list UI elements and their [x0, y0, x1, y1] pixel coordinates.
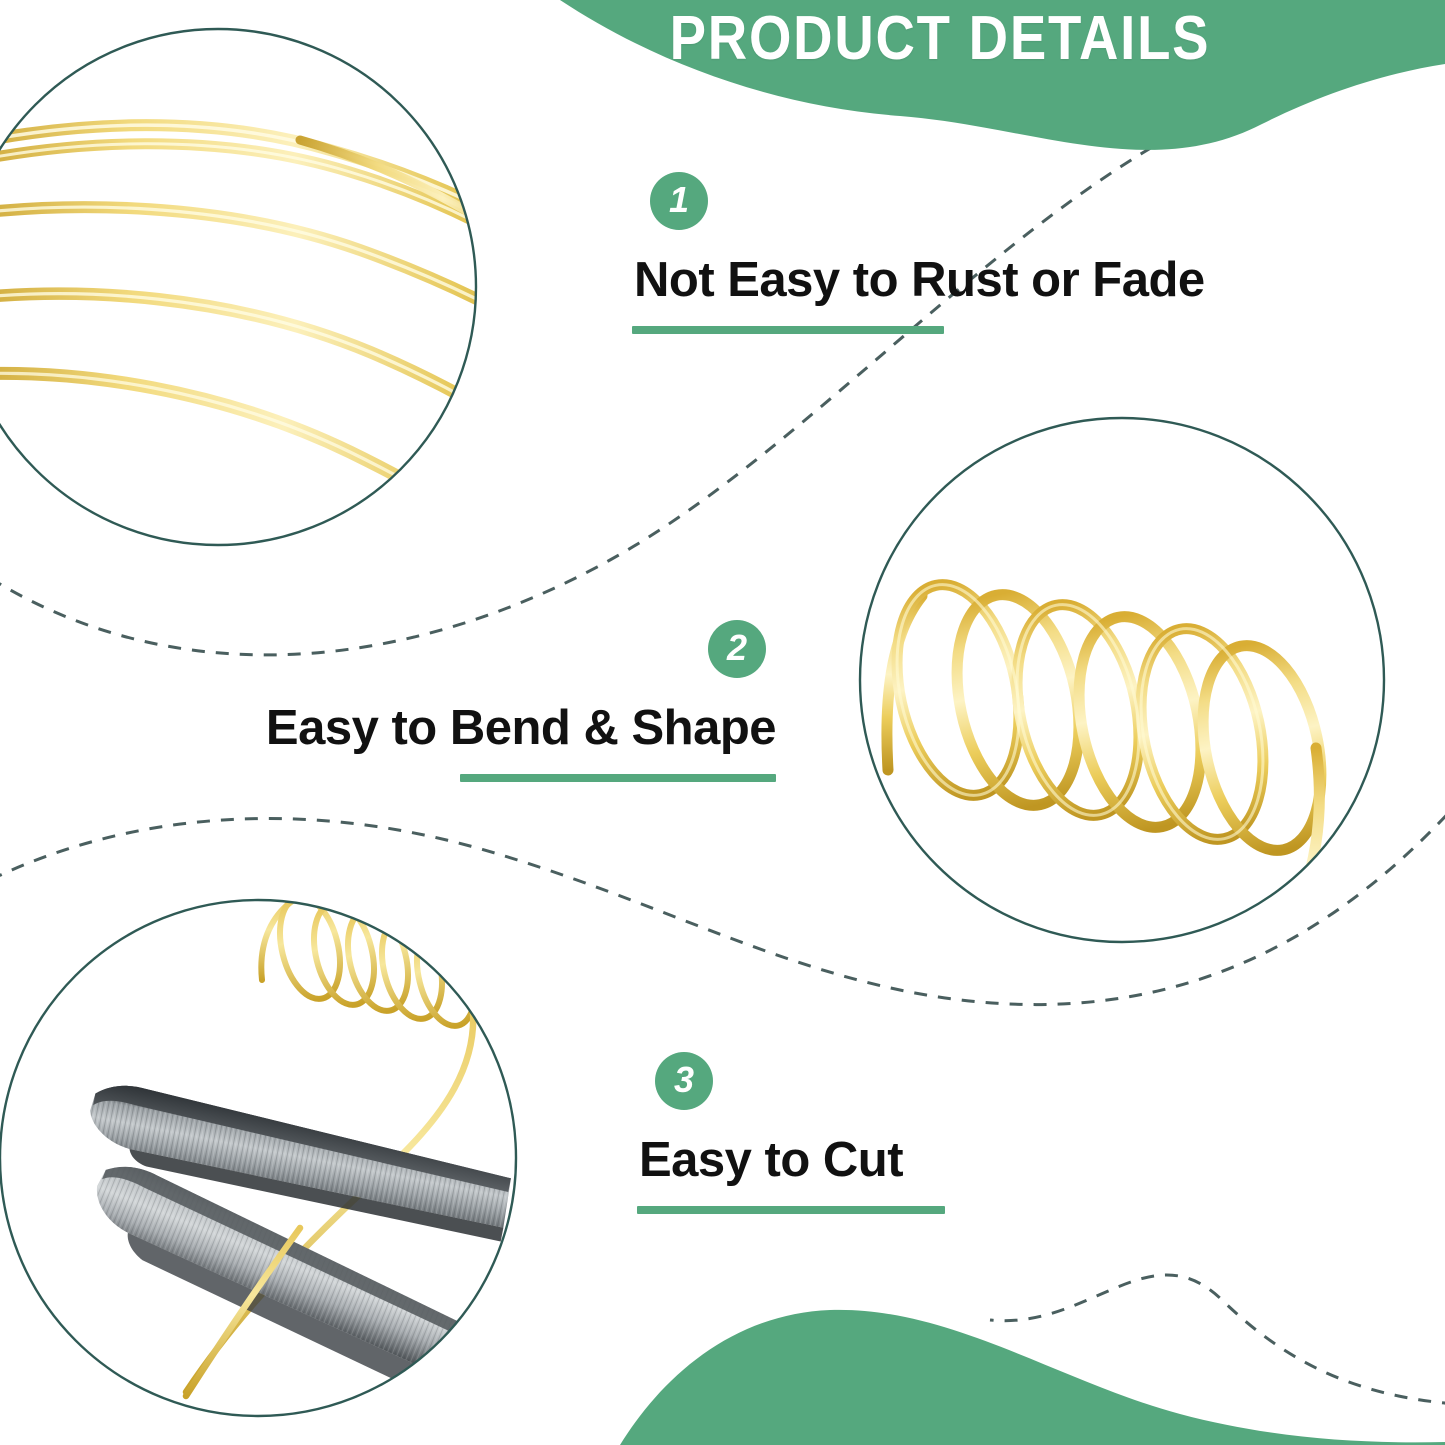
feature-title-2: Easy to Bend & Shape: [246, 700, 776, 756]
feature-title-3: Easy to Cut: [639, 1132, 945, 1188]
feature-block-3: 3 Easy to Cut: [637, 1052, 945, 1214]
pliers-cutting-wire-photo: [0, 890, 530, 1430]
feature-title-1: Not Easy to Rust or Fade: [634, 252, 1205, 308]
infographic-canvas: PRODUCT DETAILS 1 Not Easy to Rust or Fa…: [0, 0, 1445, 1445]
footer-green-wave: [620, 1310, 1445, 1445]
gold-wire-strands-photo: [0, 20, 590, 580]
page-title: PRODUCT DETAILS: [658, 6, 1221, 71]
feature-number-badge-2: 2: [708, 620, 766, 678]
gold-wire-coil-photo: [856, 414, 1388, 1010]
feature-block-2: 2 Easy to Bend & Shape: [246, 620, 776, 782]
feature-underline-2: [460, 774, 776, 782]
feature-number-badge-3: 3: [655, 1052, 713, 1110]
feature-number-badge-1: 1: [650, 172, 708, 230]
feature-block-1: 1 Not Easy to Rust or Fade: [632, 172, 1205, 334]
feature-underline-1: [632, 326, 944, 334]
feature-underline-3: [637, 1206, 945, 1214]
